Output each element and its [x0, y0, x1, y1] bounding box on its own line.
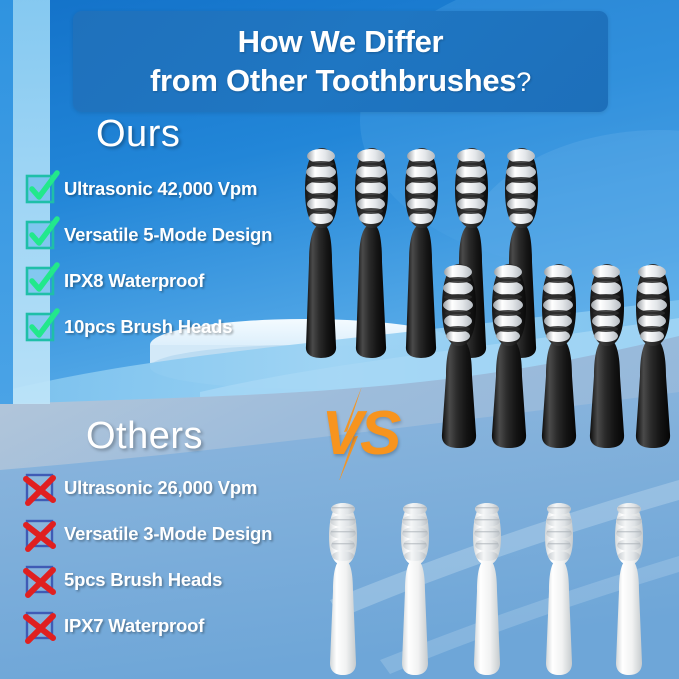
feature-label: 10pcs Brush Heads	[64, 316, 232, 338]
feature-row: IPX7 Waterproof	[26, 603, 272, 649]
infographic-canvas: How We Differ from Other Toothbrushes? O…	[0, 0, 679, 679]
left-edge-bar	[0, 0, 13, 404]
brush-head-white	[462, 487, 512, 679]
feature-row: IPX8 Waterproof	[26, 258, 272, 304]
section-heading-others: Others	[86, 415, 203, 458]
feature-label: Ultrasonic 42,000 Vpm	[64, 178, 257, 200]
feature-label: Versatile 5-Mode Design	[64, 224, 272, 246]
check-icon	[26, 221, 56, 249]
brush-head-white	[604, 487, 654, 679]
feature-list-others: Ultrasonic 26,000 Vpm Versatile 3-Mode D…	[26, 465, 272, 649]
feature-row: Versatile 3-Mode Design	[26, 511, 272, 557]
versus-badge: VS	[300, 388, 420, 480]
versus-label: VS	[300, 388, 420, 480]
cross-icon	[26, 612, 56, 640]
feature-row: Ultrasonic 26,000 Vpm	[26, 465, 272, 511]
title-question-mark: ?	[516, 67, 531, 97]
section-heading-ours: Ours	[96, 113, 180, 156]
title-line-2: from Other Toothbrushes?	[150, 63, 531, 100]
check-icon	[26, 267, 56, 295]
feature-row: Ultrasonic 42,000 Vpm	[26, 166, 272, 212]
cross-icon	[26, 566, 56, 594]
cross-icon	[26, 474, 56, 502]
title-line-2-text: from Other Toothbrushes	[150, 63, 516, 98]
feature-row: 5pcs Brush Heads	[26, 557, 272, 603]
feature-label: 5pcs Brush Heads	[64, 569, 222, 591]
feature-row: 10pcs Brush Heads	[26, 304, 272, 350]
feature-label: IPX7 Waterproof	[64, 615, 204, 637]
check-icon	[26, 175, 56, 203]
brush-head-white	[390, 487, 440, 679]
feature-label: Ultrasonic 26,000 Vpm	[64, 477, 257, 499]
brush-head-white	[318, 487, 368, 679]
title-banner: How We Differ from Other Toothbrushes?	[73, 11, 608, 112]
brush-head-black	[346, 132, 402, 364]
feature-label: Versatile 3-Mode Design	[64, 523, 272, 545]
check-icon	[26, 313, 56, 341]
title-line-1: How We Differ	[238, 24, 444, 61]
feature-list-ours: Ultrasonic 42,000 Vpm Versatile 5-Mode D…	[26, 166, 272, 350]
brush-head-black	[626, 252, 679, 452]
cross-icon	[26, 520, 56, 548]
brush-head-white	[534, 487, 584, 679]
feature-row: Versatile 5-Mode Design	[26, 212, 272, 258]
feature-label: IPX8 Waterproof	[64, 270, 204, 292]
brush-head-black	[296, 132, 352, 364]
